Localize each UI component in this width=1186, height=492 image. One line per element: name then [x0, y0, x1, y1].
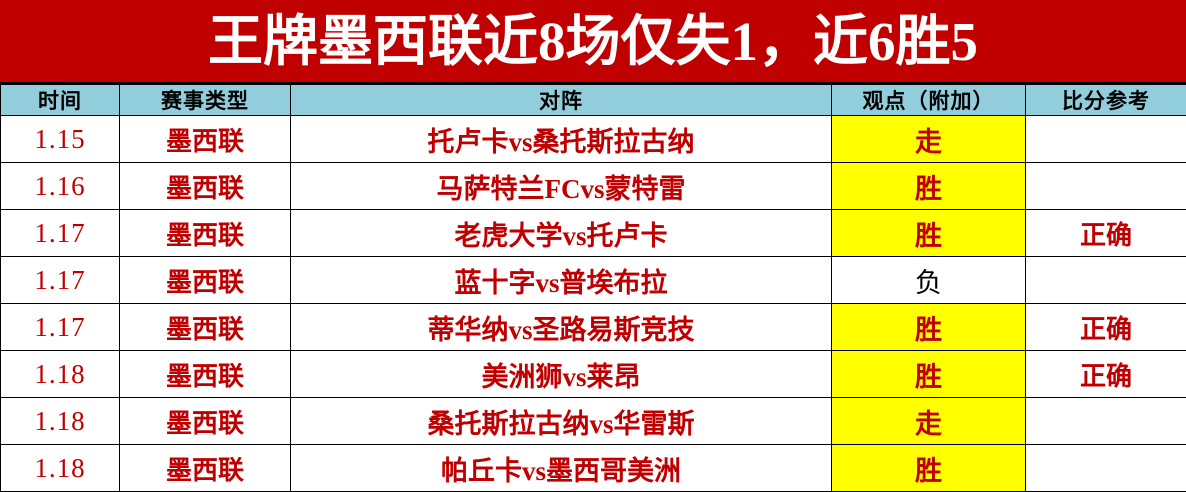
predictions-table: 时间 赛事类型 对阵 观点（附加） 比分参考 1.15墨西联托卢卡vs桑托斯拉古…: [0, 84, 1186, 492]
cell-league: 墨西联: [120, 257, 291, 304]
cell-time: 1.17: [1, 304, 120, 351]
cell-opinion: 走: [832, 398, 1026, 445]
cell-match: 蒂华纳vs圣路易斯竞技: [291, 304, 832, 351]
cell-score: [1026, 163, 1186, 210]
cell-match: 桑托斯拉古纳vs华雷斯: [291, 398, 832, 445]
cell-score: [1026, 116, 1186, 163]
column-header-match: 对阵: [291, 85, 832, 116]
cell-time: 1.18: [1, 398, 120, 445]
column-header-time: 时间: [1, 85, 120, 116]
table-row: 1.17墨西联蒂华纳vs圣路易斯竞技胜正确: [1, 304, 1186, 351]
cell-time: 1.18: [1, 351, 120, 398]
cell-opinion: 胜: [832, 351, 1026, 398]
cell-time: 1.15: [1, 116, 120, 163]
table-header: 时间 赛事类型 对阵 观点（附加） 比分参考: [1, 85, 1186, 116]
table-row: 1.18墨西联美洲狮vs莱昂胜正确: [1, 351, 1186, 398]
table-body: 1.15墨西联托卢卡vs桑托斯拉古纳走1.16墨西联马萨特兰FCvs蒙特雷胜1.…: [1, 116, 1186, 492]
page-root: 王牌墨西联近8场仅失1，近6胜5 时间 赛事类型 对阵 观点（附加） 比分参考 …: [0, 0, 1186, 492]
table-row: 1.17墨西联老虎大学vs托卢卡胜正确: [1, 210, 1186, 257]
cell-opinion: 胜: [832, 163, 1026, 210]
cell-match: 托卢卡vs桑托斯拉古纳: [291, 116, 832, 163]
cell-score: 正确: [1026, 304, 1186, 351]
cell-match: 老虎大学vs托卢卡: [291, 210, 832, 257]
title-banner: 王牌墨西联近8场仅失1，近6胜5: [0, 0, 1186, 84]
cell-league: 墨西联: [120, 304, 291, 351]
cell-time: 1.16: [1, 163, 120, 210]
table-row: 1.18墨西联帕丘卡vs墨西哥美洲胜: [1, 445, 1186, 492]
table-row: 1.18墨西联桑托斯拉古纳vs华雷斯走: [1, 398, 1186, 445]
table-header-row: 时间 赛事类型 对阵 观点（附加） 比分参考: [1, 85, 1186, 116]
cell-time: 1.18: [1, 445, 120, 492]
cell-league: 墨西联: [120, 210, 291, 257]
cell-opinion: 负: [832, 257, 1026, 304]
table-row: 1.16墨西联马萨特兰FCvs蒙特雷胜: [1, 163, 1186, 210]
cell-league: 墨西联: [120, 445, 291, 492]
cell-opinion: 走: [832, 116, 1026, 163]
cell-match: 蓝十字vs普埃布拉: [291, 257, 832, 304]
cell-league: 墨西联: [120, 163, 291, 210]
cell-match: 美洲狮vs莱昂: [291, 351, 832, 398]
cell-match: 马萨特兰FCvs蒙特雷: [291, 163, 832, 210]
cell-time: 1.17: [1, 257, 120, 304]
cell-opinion: 胜: [832, 445, 1026, 492]
cell-score: 正确: [1026, 210, 1186, 257]
cell-league: 墨西联: [120, 351, 291, 398]
column-header-league: 赛事类型: [120, 85, 291, 116]
cell-score: 正确: [1026, 351, 1186, 398]
cell-score: [1026, 257, 1186, 304]
cell-time: 1.17: [1, 210, 120, 257]
cell-league: 墨西联: [120, 398, 291, 445]
cell-opinion: 胜: [832, 304, 1026, 351]
cell-score: [1026, 398, 1186, 445]
table-row: 1.15墨西联托卢卡vs桑托斯拉古纳走: [1, 116, 1186, 163]
cell-opinion: 胜: [832, 210, 1026, 257]
cell-league: 墨西联: [120, 116, 291, 163]
cell-match: 帕丘卡vs墨西哥美洲: [291, 445, 832, 492]
column-header-opinion: 观点（附加）: [832, 85, 1026, 116]
table-row: 1.17墨西联蓝十字vs普埃布拉负: [1, 257, 1186, 304]
column-header-score: 比分参考: [1026, 85, 1186, 116]
cell-score: [1026, 445, 1186, 492]
page-title: 王牌墨西联近8场仅失1，近6胜5: [208, 14, 978, 69]
